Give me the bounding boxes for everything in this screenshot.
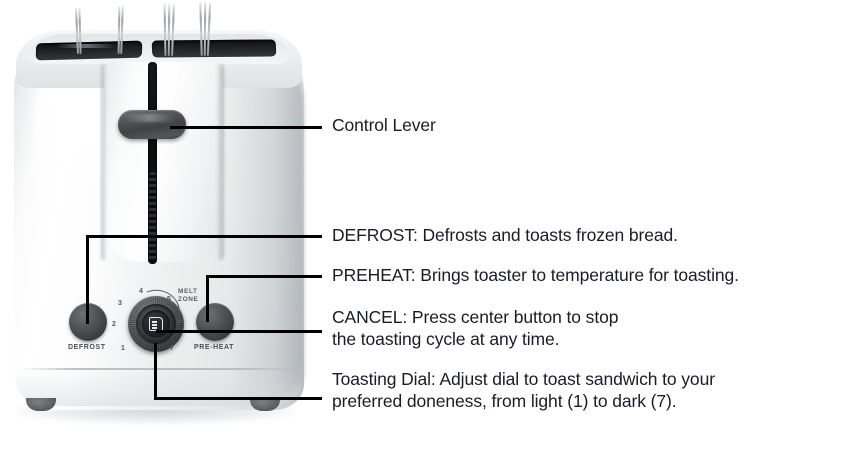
body-right-shading — [232, 48, 304, 398]
leader-line-dial-vertical — [154, 343, 157, 399]
body-left-highlight — [34, 70, 108, 280]
melt-zone-label: MELT ZONE — [178, 288, 198, 303]
leader-line-dial-horizontal — [154, 397, 322, 400]
sandwich-cage-wire — [199, 2, 202, 56]
slot-highlight — [56, 44, 116, 48]
preheat-panel-label: PRE-HEAT — [194, 344, 234, 351]
front-center-panel — [104, 62, 222, 262]
callout-control-lever: Control Lever — [332, 114, 436, 136]
control-lever-highlight — [124, 114, 176, 122]
center-panel-right-edge — [216, 64, 224, 260]
leader-line-preheat-horizontal — [206, 275, 322, 278]
defrost-panel-label: DEFROST — [68, 344, 106, 351]
dial-number-6: 6 — [177, 318, 181, 325]
leader-line-cancel — [156, 330, 322, 333]
leader-line-control-lever — [170, 126, 322, 129]
center-panel-left-edge — [101, 64, 107, 260]
callout-toasting-dial: Toasting Dial: Adjust dial to toast sand… — [332, 368, 715, 412]
dial-number-2: 2 — [112, 321, 116, 328]
callout-cancel: CANCEL: Press center button to stop the … — [332, 306, 618, 350]
callout-defrost: DEFROST: Defrosts and toasts frozen brea… — [332, 224, 678, 246]
toast-slice-cancel-icon — [149, 317, 163, 331]
leader-line-preheat-vertical — [206, 276, 209, 322]
figure-canvas: DEFROST PRE-HEAT MELT ZONE 1 2 3 4 5 6 7… — [0, 0, 864, 459]
dial-number-3: 3 — [118, 300, 122, 307]
base-plinth-seam — [18, 368, 300, 370]
toaster-photo: DEFROST PRE-HEAT MELT ZONE 1 2 3 4 5 6 7 — [0, 0, 330, 459]
preheat-button[interactable] — [196, 303, 234, 341]
dial-number-5: 5 — [167, 296, 171, 303]
dial-number-7: 7 — [170, 345, 174, 352]
dial-number-4: 4 — [139, 288, 143, 295]
callout-preheat: PREHEAT: Brings toaster to temperature f… — [332, 264, 739, 286]
sandwich-cage-wire — [164, 4, 167, 56]
dial-number-1: 1 — [121, 345, 125, 352]
leader-line-defrost-horizontal — [86, 235, 322, 238]
leader-line-defrost-vertical — [86, 236, 89, 324]
lever-track-notches — [149, 172, 156, 262]
